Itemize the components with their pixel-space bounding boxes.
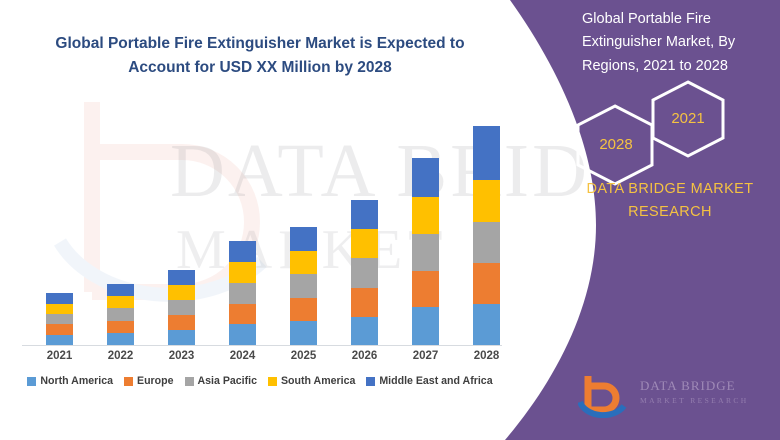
legend-label: Asia Pacific	[198, 375, 257, 387]
x-axis-label-2026: 2026	[337, 350, 393, 362]
bar-2023[interactable]	[168, 270, 195, 345]
bar-segment	[46, 335, 73, 345]
legend-label: Europe	[137, 375, 174, 387]
bar-segment	[107, 333, 134, 345]
legend-label: Middle East and Africa	[379, 375, 492, 387]
bar-2022[interactable]	[107, 284, 134, 345]
bar-2021[interactable]	[46, 293, 73, 345]
bar-segment	[351, 317, 378, 345]
bar-segment	[229, 304, 256, 325]
brand-line-1: DATA BRIDGE MARKET	[587, 181, 754, 197]
bar-segment	[229, 283, 256, 304]
legend-item[interactable]: Asia Pacific	[185, 375, 257, 387]
bar-segment	[46, 304, 73, 314]
logo-text-primary: DATA BRIDGE	[640, 378, 736, 394]
bar-segment	[412, 307, 439, 345]
logo-text-secondary: MARKET RESEARCH	[640, 396, 749, 405]
logo-b-icon	[578, 372, 630, 418]
bar-segment	[107, 284, 134, 296]
legend-item[interactable]: Middle East and Africa	[366, 375, 492, 387]
brand-name: DATA BRIDGE MARKET RESEARCH	[570, 178, 770, 224]
x-axis-label-2027: 2027	[398, 350, 454, 362]
x-axis-label-2024: 2024	[215, 350, 271, 362]
hexagon-group: 2028 2021	[560, 78, 780, 188]
bar-segment	[107, 296, 134, 308]
company-logo: DATA BRIDGE MARKET RESEARCH	[578, 370, 778, 422]
chart-title: Global Portable Fire Extinguisher Market…	[40, 32, 480, 80]
side-panel-title: Global Portable Fire Extinguisher Market…	[582, 8, 778, 78]
bar-segment	[107, 321, 134, 333]
bar-2024[interactable]	[229, 241, 256, 345]
bar-2025[interactable]	[290, 227, 317, 345]
bar-segment	[351, 200, 378, 229]
chart-panel: DATA BRIDGE MARKET Global Portable Fire …	[0, 0, 540, 440]
bar-2026[interactable]	[351, 200, 378, 345]
bar-segment	[290, 274, 317, 298]
x-axis-labels: 20212022202320242025202620272028	[0, 350, 520, 368]
bar-segment	[168, 270, 195, 285]
bar-segment	[290, 298, 317, 322]
plot-area	[0, 100, 520, 346]
legend-swatch-icon	[185, 377, 194, 386]
brand-line-2: RESEARCH	[628, 204, 712, 220]
legend-swatch-icon	[268, 377, 277, 386]
bar-2028[interactable]	[473, 126, 500, 345]
infographic-slide: DATA BRIDGE MARKET Global Portable Fire …	[0, 0, 780, 440]
legend-label: North America	[40, 375, 113, 387]
bar-segment	[168, 300, 195, 315]
legend-item[interactable]: Europe	[124, 375, 174, 387]
bar-segment	[473, 263, 500, 304]
bar-segment	[351, 258, 378, 287]
bar-segment	[229, 241, 256, 262]
chart-legend: North AmericaEuropeAsia PacificSouth Ame…	[0, 375, 520, 387]
bar-segment	[290, 227, 317, 251]
bar-segment	[473, 222, 500, 263]
bar-segment	[229, 262, 256, 283]
bar-segment	[168, 315, 195, 330]
bar-segment	[412, 158, 439, 197]
hexagon-label-2021: 2021	[656, 110, 720, 127]
bar-segment	[290, 321, 317, 345]
bar-segment	[473, 180, 500, 221]
bar-segment	[168, 285, 195, 300]
hexagon-label-2028: 2028	[582, 136, 650, 153]
bar-segment	[290, 251, 317, 275]
bar-group	[0, 100, 520, 345]
bar-segment	[473, 304, 500, 345]
bar-segment	[351, 229, 378, 258]
x-axis-label-2021: 2021	[32, 350, 88, 362]
hexagon-shapes-icon	[560, 78, 780, 188]
bar-segment	[412, 197, 439, 234]
legend-item[interactable]: North America	[27, 375, 113, 387]
bar-2027[interactable]	[412, 158, 439, 345]
bar-segment	[46, 324, 73, 334]
legend-swatch-icon	[366, 377, 375, 386]
legend-swatch-icon	[27, 377, 36, 386]
bar-segment	[229, 324, 256, 345]
bar-segment	[412, 271, 439, 308]
x-axis-line	[22, 345, 502, 346]
bar-segment	[46, 293, 73, 303]
bar-segment	[473, 126, 500, 180]
x-axis-label-2023: 2023	[154, 350, 210, 362]
legend-label: South America	[281, 375, 355, 387]
brand-panel-content: BR Global Portable Fire Extinguisher Mar…	[560, 0, 780, 440]
bar-segment	[107, 308, 134, 320]
legend-swatch-icon	[124, 377, 133, 386]
bar-segment	[168, 330, 195, 345]
x-axis-label-2022: 2022	[93, 350, 149, 362]
legend-item[interactable]: South America	[268, 375, 355, 387]
x-axis-label-2025: 2025	[276, 350, 332, 362]
bar-segment	[46, 314, 73, 324]
bar-segment	[351, 288, 378, 317]
x-axis-label-2028: 2028	[459, 350, 515, 362]
bar-segment	[412, 234, 439, 271]
